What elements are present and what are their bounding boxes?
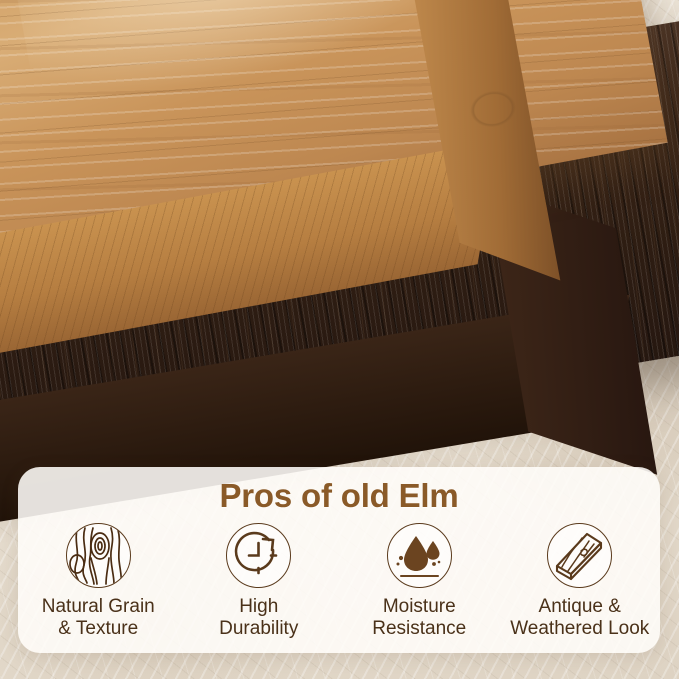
- pros-card: Pros of old Elm: [18, 467, 660, 653]
- feature-label: Natural Grain & Texture: [42, 596, 155, 639]
- wood-grain-icon: [66, 523, 131, 588]
- wood-plank-icon: [547, 523, 612, 588]
- feature-antique-look: Antique & Weathered Look: [500, 523, 661, 639]
- feature-label: High Durability: [219, 596, 298, 639]
- product-feature-image: Pros of old Elm: [0, 0, 679, 679]
- feature-high-durability: High Durability: [179, 523, 340, 639]
- card-title: Pros of old Elm: [18, 477, 660, 515]
- feature-moisture-resistance: Moisture Resistance: [339, 523, 500, 639]
- feature-label: Moisture Resistance: [372, 596, 466, 639]
- feature-list: Natural Grain & Texture High Durabil: [18, 523, 660, 639]
- feature-label: Antique & Weathered Look: [510, 596, 649, 639]
- wood-knot: [450, 72, 536, 146]
- water-droplet-icon: [387, 523, 452, 588]
- feature-natural-grain: Natural Grain & Texture: [18, 523, 179, 639]
- clock-rotate-icon: [226, 523, 291, 588]
